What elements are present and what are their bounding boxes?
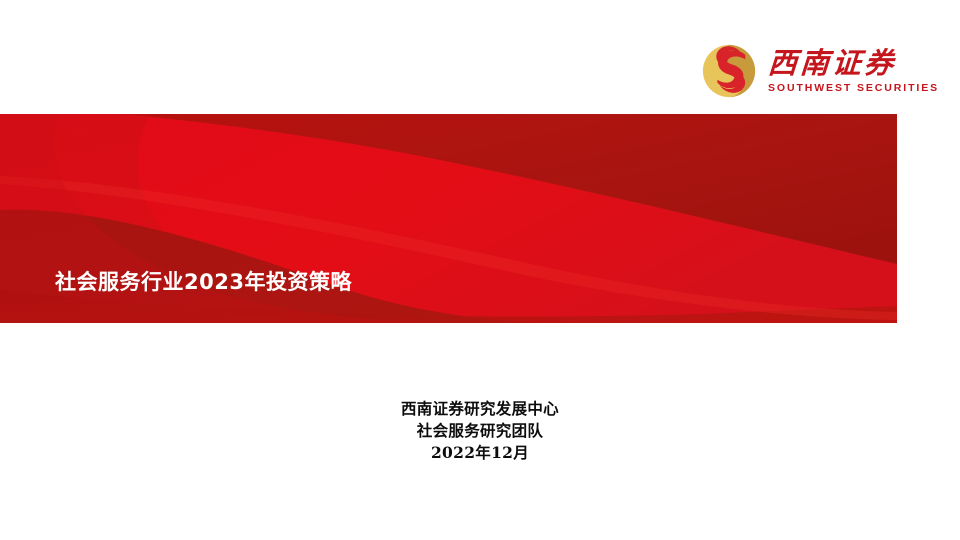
footer-date: 2022年12月	[0, 442, 960, 464]
slide-subtitle: 社会服务行业2023年投资策略	[55, 266, 352, 296]
logo-english-name: SOUTHWEST SECURITIES	[768, 82, 939, 94]
logo-wordmark: 西南证券 SOUTHWEST SECURITIES	[768, 48, 939, 93]
footer-organization: 西南证券研究发展中心	[0, 398, 960, 420]
company-logo: 西南证券 SOUTHWEST SECURITIES	[700, 36, 905, 106]
slide-footer: 西南证券研究发展中心 社会服务研究团队 2022年12月	[0, 398, 960, 464]
logo-chinese-name: 西南证券	[767, 48, 897, 78]
footer-team: 社会服务研究团队	[0, 420, 960, 442]
presentation-slide: 西南证券 SOUTHWEST SECURITIES	[0, 0, 960, 540]
title-banner: 社会服务行业2023年投资策略 拨开云雾见天日，景气提升光明来	[0, 114, 897, 323]
southwest-securities-swirl-logo	[700, 42, 758, 100]
